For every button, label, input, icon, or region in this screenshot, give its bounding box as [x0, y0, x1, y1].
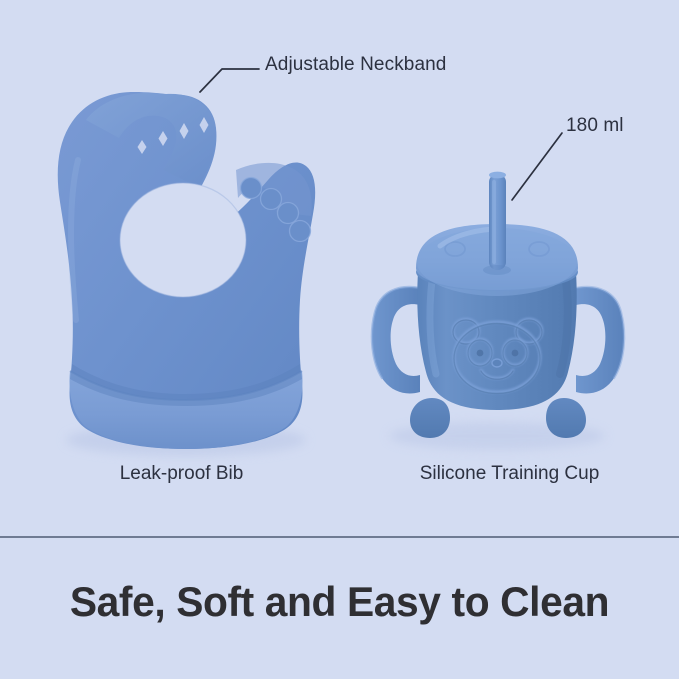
cup-handle-right	[576, 287, 624, 393]
callout-cup-volume: 180 ml	[566, 115, 624, 137]
callout-adjustable-neckband: Adjustable Neckband	[265, 54, 446, 76]
cup-straw	[489, 172, 506, 270]
caption-leak-proof-bib: Leak-proof Bib	[0, 463, 363, 485]
caption-silicone-training-cup: Silicone Training Cup	[340, 463, 679, 485]
product-infographic: Adjustable Neckband 180 ml Leak-proof Bi…	[0, 0, 679, 679]
section-divider	[0, 536, 679, 538]
cup-illustration	[372, 172, 624, 450]
bib-illustration	[58, 92, 315, 456]
headline-text: Safe, Soft and Easy to Clean	[10, 578, 669, 626]
leader-line-neckband	[200, 69, 259, 92]
straw-base-shadow	[483, 265, 511, 275]
cup-handle-left	[372, 287, 420, 393]
leader-line-volume	[512, 133, 562, 200]
